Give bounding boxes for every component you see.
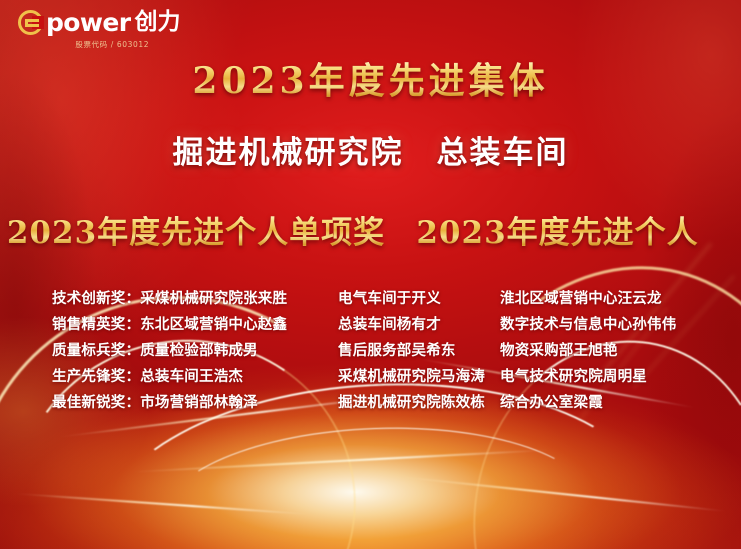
winner-name: 综合办公室梁霞 bbox=[500, 390, 741, 416]
winner-name: 物资采购部王旭艳 bbox=[500, 338, 741, 364]
list-item: 售后服务部吴希东 物资采购部王旭艳 bbox=[338, 338, 741, 364]
winner-name: 数字技术与信息中心孙伟伟 bbox=[500, 312, 741, 338]
list-item: 销售精英奖：东北区域营销中心赵鑫 bbox=[52, 312, 330, 338]
light-streak bbox=[401, 476, 725, 512]
winning-teams: 掘进机械研究院 总装车间 bbox=[0, 136, 741, 170]
winner-name: 售后服务部吴希东 bbox=[338, 338, 500, 364]
list-item: 采煤机械研究院马海涛 电气技术研究院周明星 bbox=[338, 364, 741, 390]
list-item: 总装车间杨有才 数字技术与信息中心孙伟伟 bbox=[338, 312, 741, 338]
logo-wordmark: power bbox=[46, 10, 130, 35]
list-item: 掘进机械研究院陈效栋 综合办公室梁霞 bbox=[338, 390, 741, 416]
poster-content: 2023年度先进集体 掘进机械研究院 总装车间 2023年度先进个人单项奖 20… bbox=[0, 0, 741, 549]
power-plug-circle-icon bbox=[18, 10, 43, 35]
award-lists: 技术创新奖：采煤机械研究院张来胜 销售精英奖：东北区域营销中心赵鑫 质量标兵奖：… bbox=[0, 286, 741, 416]
individual-awards-column: 电气车间于开义 淮北区域营销中心汪云龙 总装车间杨有才 数字技术与信息中心孙伟伟… bbox=[330, 286, 741, 416]
award-poster: power 创力 股票代码 / 603012 2023年度先进集体 掘进机械研究… bbox=[0, 0, 741, 549]
winner-name: 电气技术研究院周明星 bbox=[500, 364, 741, 390]
logo-wordmark-cn: 创力 bbox=[134, 11, 180, 34]
light-streak bbox=[134, 449, 548, 472]
section-header-individual-awards: 2023年度先进个人 bbox=[392, 216, 741, 250]
page-title: 2023年度先进集体 bbox=[0, 62, 741, 102]
light-swirl bbox=[160, 421, 595, 549]
list-item: 质量标兵奖：质量检验部韩成男 bbox=[52, 338, 330, 364]
section-headers: 2023年度先进个人单项奖 2023年度先进个人 bbox=[0, 216, 741, 250]
special-awards-column: 技术创新奖：采煤机械研究院张来胜 销售精英奖：东北区域营销中心赵鑫 质量标兵奖：… bbox=[0, 286, 330, 416]
list-item: 生产先锋奖：总装车间王浩杰 bbox=[52, 364, 330, 390]
list-item: 最佳新锐奖：市场营销部林翰泽 bbox=[52, 390, 330, 416]
section-header-special-awards: 2023年度先进个人单项奖 bbox=[0, 216, 392, 250]
list-item: 电气车间于开义 淮北区域营销中心汪云龙 bbox=[338, 286, 741, 312]
winner-name: 淮北区域营销中心汪云龙 bbox=[500, 286, 741, 312]
company-logo: power 创力 股票代码 / 603012 bbox=[18, 10, 180, 50]
logo-stock-code: 股票代码 / 603012 bbox=[18, 39, 180, 50]
list-item: 技术创新奖：采煤机械研究院张来胜 bbox=[52, 286, 330, 312]
winner-name: 总装车间杨有才 bbox=[338, 312, 500, 338]
winner-name: 掘进机械研究院陈效栋 bbox=[338, 390, 500, 416]
logo-row: power 创力 bbox=[18, 10, 180, 35]
light-streak bbox=[15, 493, 311, 516]
winner-name: 采煤机械研究院马海涛 bbox=[338, 364, 500, 390]
winner-name: 电气车间于开义 bbox=[338, 286, 500, 312]
